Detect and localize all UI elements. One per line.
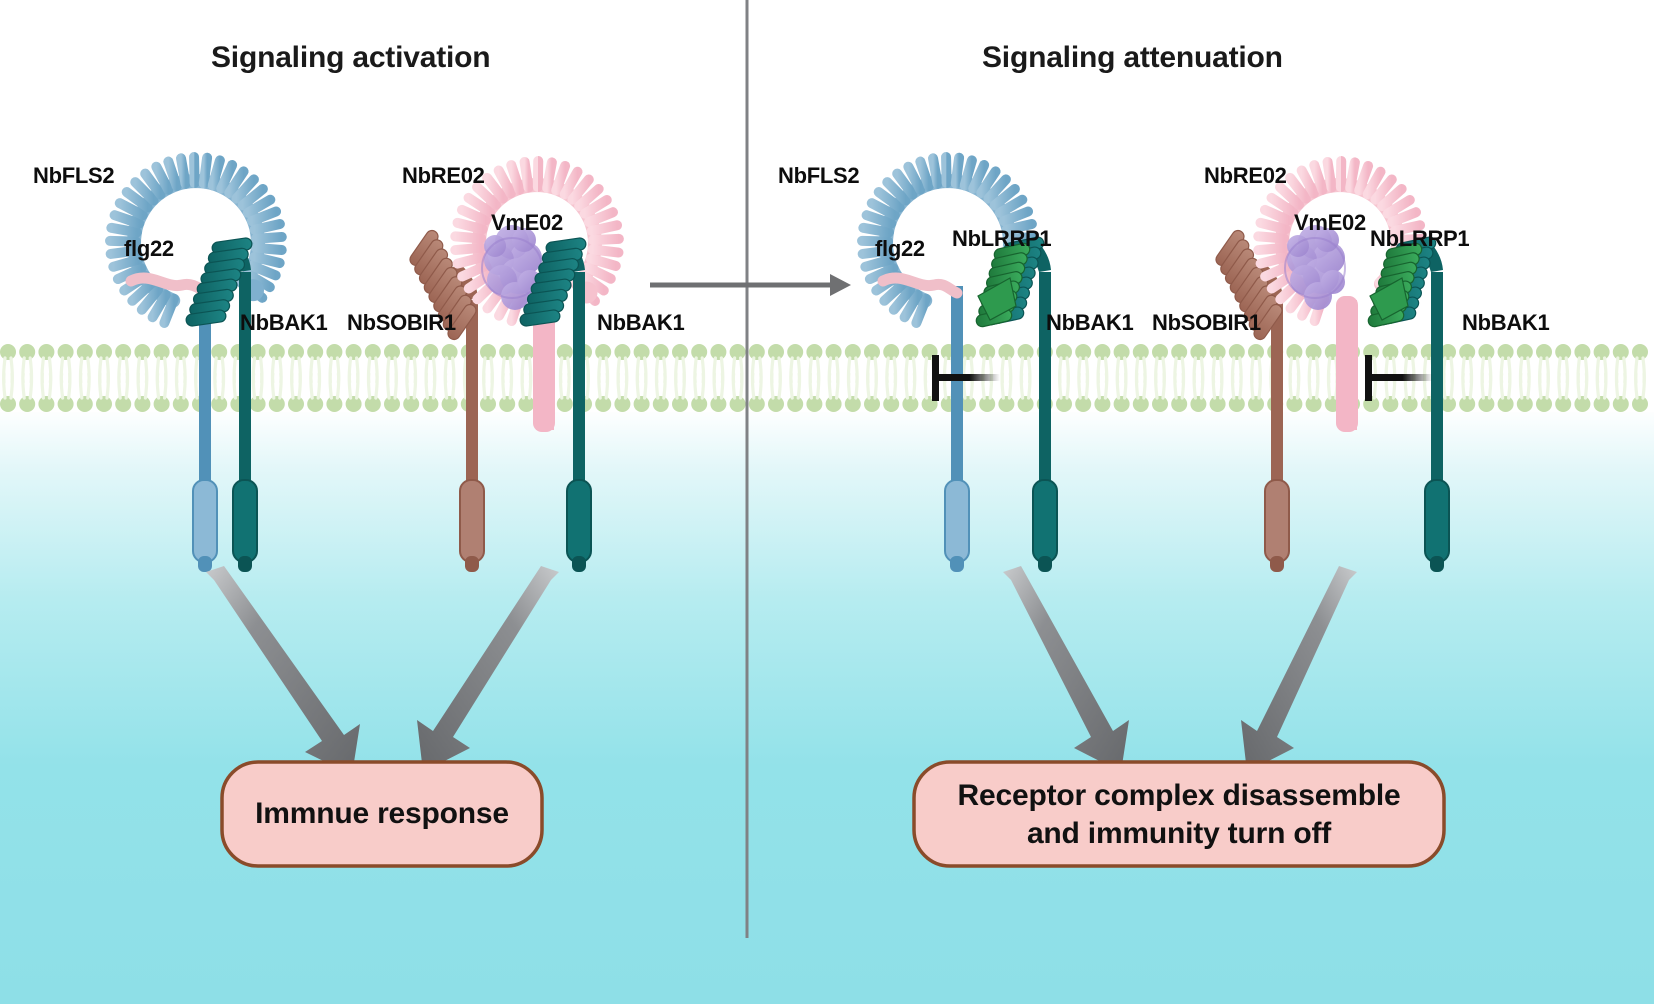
label-vme02-right: VmE02 <box>1294 210 1366 236</box>
label-nbfls2-left: NbFLS2 <box>33 163 114 189</box>
label-nbbak1-right-1: NbBAK1 <box>1046 310 1133 336</box>
transition-arrow <box>650 274 851 296</box>
label-nbbak1-left-2: NbBAK1 <box>597 310 684 336</box>
label-nbfls2-right: NbFLS2 <box>778 163 859 189</box>
label-nblrrp1-right-1: NbLRRP1 <box>952 226 1051 252</box>
label-nbbak1-right-2: NbBAK1 <box>1462 310 1549 336</box>
label-nbre02-right: NbRE02 <box>1204 163 1287 189</box>
label-nblrrp1-right-2: NbLRRP1 <box>1370 226 1469 252</box>
label-nbsobir1-right: NbSOBIR1 <box>1152 310 1261 336</box>
label-flg22-right: flg22 <box>875 236 925 262</box>
label-vme02-left: VmE02 <box>491 210 563 236</box>
outcome-text-left: Immnue response <box>222 795 542 833</box>
diagram-svg <box>0 0 1654 1004</box>
label-nbbak1-left-1: NbBAK1 <box>240 310 327 336</box>
label-flg22-left: flg22 <box>124 236 174 262</box>
label-nbsobir1-left: NbSOBIR1 <box>347 310 456 336</box>
figure-canvas: Signaling activation Signaling attenuati… <box>0 0 1654 1004</box>
panel-title-left: Signaling activation <box>211 41 490 75</box>
label-nbre02-left: NbRE02 <box>402 163 485 189</box>
panel-title-right: Signaling attenuation <box>982 41 1283 75</box>
outcome-text-right: Receptor complex disassemble and immunit… <box>914 777 1444 853</box>
